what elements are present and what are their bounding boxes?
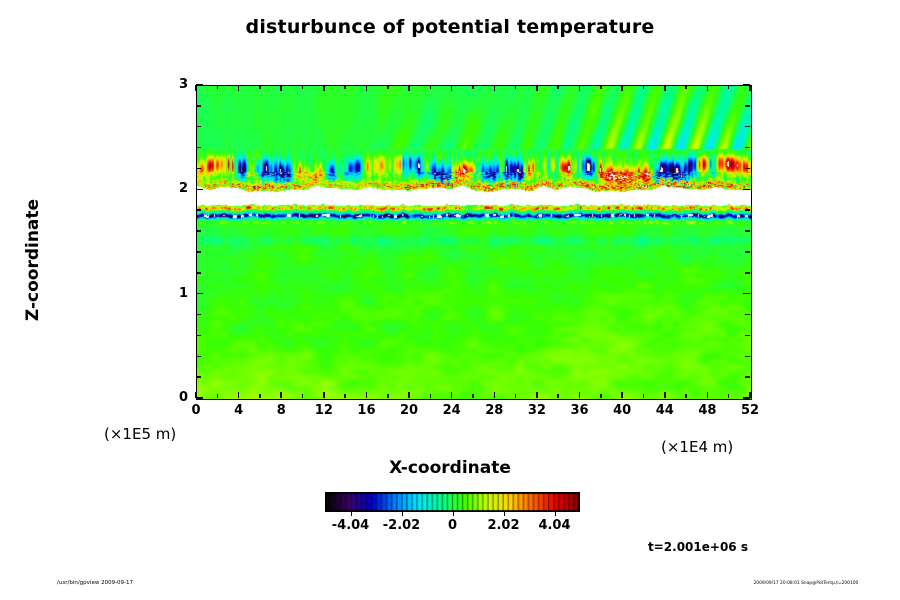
tick-mark	[621, 392, 623, 398]
tick-mark	[196, 147, 201, 149]
tick-mark	[643, 85, 645, 89]
y-axis-title: Z-coordinate	[23, 180, 43, 340]
tick-mark	[745, 126, 750, 128]
tick-mark	[196, 314, 201, 316]
x-tick-label: 44	[645, 403, 685, 418]
y-axis-multiplier-label: (×1E5 m)	[104, 425, 176, 443]
tick-mark	[579, 392, 581, 398]
y-tick-label: 0	[162, 390, 188, 405]
tick-mark	[515, 85, 517, 89]
tick-mark	[196, 293, 203, 295]
x-axis-multiplier-label: (×1E4 m)	[661, 438, 733, 456]
x-tick-label: 12	[304, 403, 344, 418]
tick-mark	[745, 168, 750, 170]
tick-mark	[745, 147, 750, 149]
x-axis-title: X-coordinate	[0, 458, 900, 478]
tick-mark	[196, 168, 201, 170]
tick-mark	[196, 126, 201, 128]
tick-mark	[685, 394, 687, 398]
tick-mark	[745, 105, 750, 107]
tick-mark	[600, 394, 602, 398]
tick-mark	[344, 394, 346, 398]
tick-mark	[745, 230, 750, 232]
tick-mark	[743, 189, 750, 191]
x-tick-label: 16	[346, 403, 386, 418]
tick-mark	[302, 85, 304, 89]
colorbar-tick-mark	[351, 512, 352, 516]
tick-mark	[472, 85, 474, 89]
tick-mark	[536, 392, 538, 398]
tick-mark	[743, 84, 750, 86]
tick-mark	[745, 209, 750, 211]
tick-mark	[685, 85, 687, 89]
y-tick-label: 1	[162, 286, 188, 301]
tick-mark	[557, 85, 559, 89]
tick-mark	[196, 335, 201, 337]
x-tick-label: 4	[219, 403, 259, 418]
colorbar-tick-mark	[402, 512, 403, 516]
colorbar-gradient	[325, 492, 580, 512]
tick-mark	[217, 394, 219, 398]
colorbar	[325, 492, 580, 512]
tick-mark	[196, 189, 203, 191]
tick-mark	[728, 85, 730, 89]
x-tick-label: 20	[389, 403, 429, 418]
tick-mark	[745, 314, 750, 316]
tick-mark	[664, 85, 666, 91]
tick-mark	[280, 392, 282, 398]
plot-area	[196, 85, 752, 400]
x-tick-label: 0	[176, 403, 216, 418]
tick-mark	[302, 394, 304, 398]
tick-mark	[664, 392, 666, 398]
tick-mark	[621, 85, 623, 91]
tick-mark	[196, 272, 201, 274]
tick-mark	[515, 394, 517, 398]
tick-mark	[728, 394, 730, 398]
tick-mark	[430, 85, 432, 89]
tick-mark	[408, 85, 410, 91]
tick-mark	[323, 85, 325, 91]
tick-mark	[600, 85, 602, 89]
colorbar-tick-mark	[555, 512, 556, 516]
tick-mark	[494, 392, 496, 398]
tick-mark	[408, 392, 410, 398]
tick-mark	[707, 392, 709, 398]
tick-mark	[196, 230, 201, 232]
tick-mark	[196, 251, 201, 253]
tick-mark	[451, 392, 453, 398]
x-tick-label: 28	[474, 403, 514, 418]
tick-mark	[195, 85, 197, 91]
tick-mark	[196, 397, 203, 399]
tick-mark	[238, 85, 240, 91]
tick-mark	[749, 85, 751, 91]
colorbar-tick-mark	[504, 512, 505, 516]
tick-mark	[259, 394, 261, 398]
tick-mark	[494, 85, 496, 91]
x-tick-label: 40	[602, 403, 642, 418]
tick-mark	[196, 105, 201, 107]
tick-mark	[387, 394, 389, 398]
x-tick-label: 32	[517, 403, 557, 418]
tick-mark	[472, 394, 474, 398]
x-tick-label: 52	[730, 403, 770, 418]
footer-metadata-label: 2009/09/17 20:08:01 Snap@PotTemp,t=20010…	[753, 581, 858, 586]
tick-mark	[430, 394, 432, 398]
tick-mark	[745, 356, 750, 358]
x-tick-label: 8	[261, 403, 301, 418]
tick-mark	[280, 85, 282, 91]
tick-mark	[259, 85, 261, 89]
tick-mark	[196, 84, 203, 86]
tick-mark	[536, 85, 538, 91]
tick-mark	[745, 251, 750, 253]
tick-mark	[217, 85, 219, 89]
tick-mark	[366, 85, 368, 91]
y-tick-label: 3	[162, 77, 188, 92]
footer-command-label: /usr/bin/gpview 2009-09-17	[57, 580, 133, 586]
tick-mark	[743, 397, 750, 399]
tick-mark	[745, 376, 750, 378]
y-tick-label: 2	[162, 181, 188, 196]
tick-mark	[707, 85, 709, 91]
colorbar-tick-mark	[453, 512, 454, 516]
tick-mark	[196, 209, 201, 211]
temperature-disturbance-heatmap	[197, 86, 751, 399]
tick-mark	[366, 392, 368, 398]
tick-mark	[196, 376, 201, 378]
tick-mark	[745, 335, 750, 337]
x-tick-label: 48	[687, 403, 727, 418]
tick-mark	[238, 392, 240, 398]
page-title: disturbunce of potential temperature	[0, 16, 900, 38]
tick-mark	[745, 272, 750, 274]
tick-mark	[387, 85, 389, 89]
tick-mark	[743, 293, 750, 295]
tick-mark	[451, 85, 453, 91]
tick-mark	[323, 392, 325, 398]
x-tick-label: 24	[432, 403, 472, 418]
colorbar-tick-label: 4.04	[525, 518, 585, 533]
tick-mark	[557, 394, 559, 398]
x-tick-label: 36	[560, 403, 600, 418]
time-annotation: t=2.001e+06 s	[648, 540, 748, 554]
tick-mark	[344, 85, 346, 89]
tick-mark	[579, 85, 581, 91]
tick-mark	[643, 394, 645, 398]
tick-mark	[196, 356, 201, 358]
